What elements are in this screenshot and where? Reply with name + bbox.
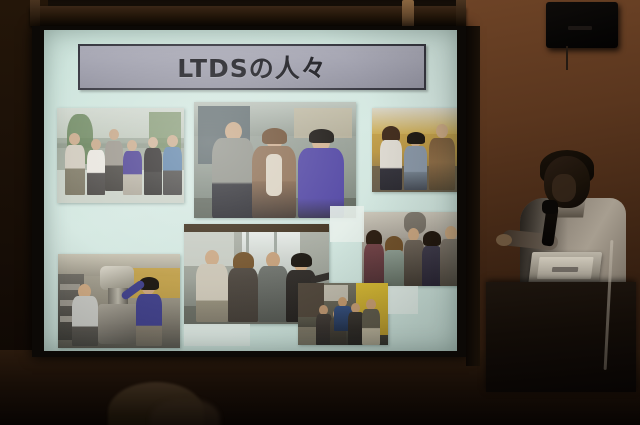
speaker-cable bbox=[566, 46, 568, 70]
collage-blank-card-3 bbox=[388, 286, 418, 314]
slide-title: LTDSの人々 bbox=[177, 49, 327, 85]
lecture-room-scene: LTDSの人々 bbox=[0, 0, 640, 425]
slide-title-box: LTDSの人々 bbox=[78, 44, 426, 90]
roller-bracket-left bbox=[30, 0, 40, 26]
screen-right-post bbox=[466, 26, 480, 366]
presenter-face bbox=[552, 174, 576, 202]
collage-photo-bottom-right bbox=[298, 283, 388, 345]
microphone-head bbox=[542, 200, 558, 214]
screen-roller-housing bbox=[30, 6, 466, 26]
collage-photo-bottom-left bbox=[58, 254, 180, 348]
slide-canvas: LTDSの人々 bbox=[44, 30, 457, 351]
wall-speaker-icon bbox=[546, 2, 618, 48]
podium bbox=[486, 282, 636, 392]
projection-screen: LTDSの人々 bbox=[44, 30, 457, 351]
collage-photo-middle-right bbox=[362, 212, 457, 286]
roller-bracket-right bbox=[456, 0, 466, 26]
collage-photo-top-center bbox=[194, 102, 356, 218]
collage-photo-top-left bbox=[57, 108, 184, 203]
collage-blank-card-2 bbox=[184, 324, 250, 346]
collage-blank-card-1 bbox=[330, 206, 364, 242]
roller-knob bbox=[402, 0, 414, 28]
collage-photo-top-right bbox=[372, 108, 457, 192]
presenter-hand bbox=[496, 234, 512, 246]
